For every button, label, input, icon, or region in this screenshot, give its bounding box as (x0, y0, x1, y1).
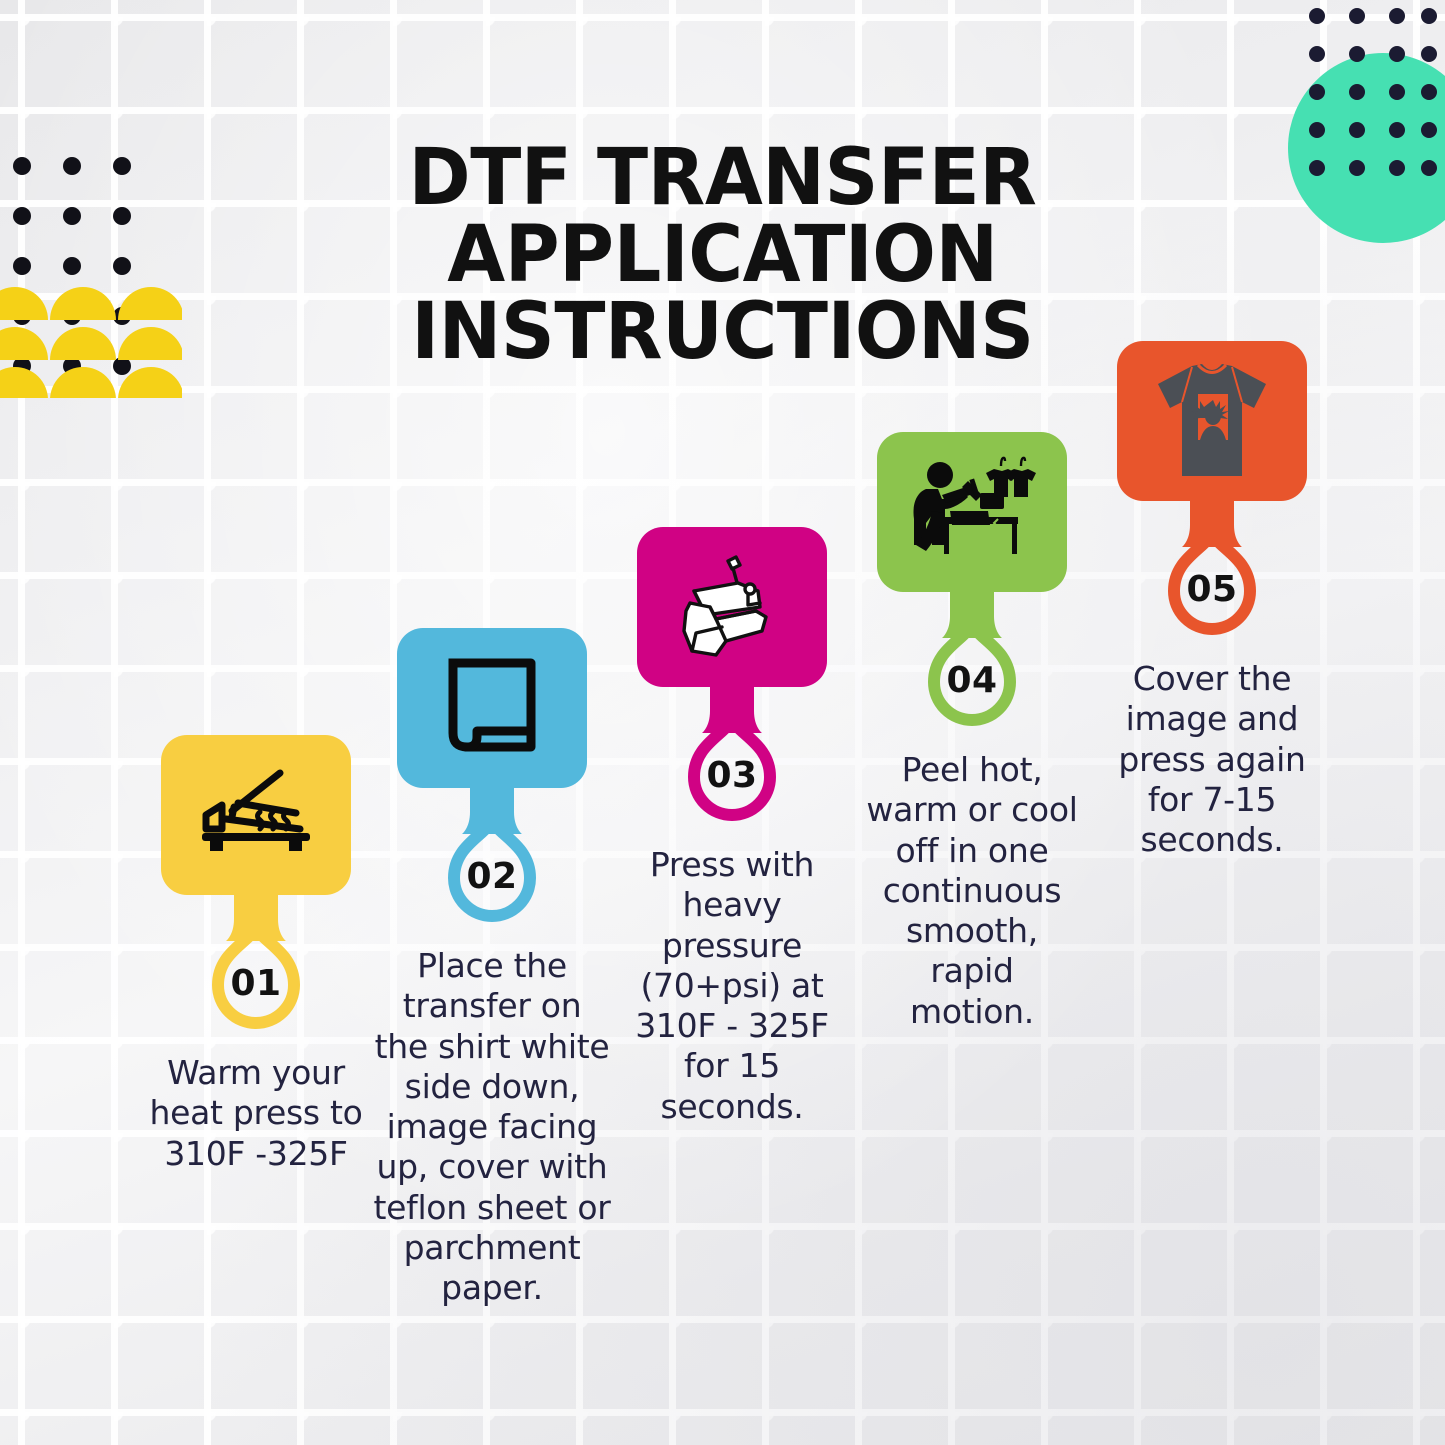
heat-press-machine-icon (670, 545, 794, 669)
step-01-text: Warm your heat press to 310F -325F (144, 1053, 369, 1174)
step-02: 02 Place the transfer on the shirt white… (368, 628, 616, 1308)
steps-container: 01 Warm your heat press to 310F -325F 02… (0, 0, 1445, 1445)
step-03-text: Press with heavy pressure (70+psi) at 31… (617, 845, 847, 1127)
step-01-number: 01 (196, 963, 316, 1004)
transfer-sheet-icon (437, 653, 547, 763)
step-03-number: 03 (672, 755, 792, 796)
step-04-icon-card (877, 432, 1067, 592)
step-03-connector: 03 (672, 681, 792, 831)
step-03: 03 Press with heavy pressure (70+psi) at… (608, 527, 856, 1127)
step-02-number: 02 (432, 856, 552, 897)
printed-tshirt-icon (1148, 360, 1276, 482)
step-05-connector: 05 (1152, 495, 1272, 645)
step-05-text: Cover the image and press again for 7-15… (1105, 659, 1320, 860)
step-03-icon-card (637, 527, 827, 687)
step-04-text: Peel hot, warm or cool off in one contin… (865, 750, 1080, 1032)
step-05-icon-card (1117, 341, 1307, 501)
step-05: 05 Cover the image and press again for 7… (1088, 341, 1336, 860)
step-02-text: Place the transfer on the shirt white si… (372, 946, 612, 1308)
step-01-connector: 01 (196, 889, 316, 1039)
step-04-connector: 04 (912, 586, 1032, 736)
step-04: 04 Peel hot, warm or cool off in one con… (848, 432, 1096, 1032)
step-02-connector: 02 (432, 782, 552, 932)
step-05-number: 05 (1152, 569, 1272, 610)
step-04-number: 04 (912, 660, 1032, 701)
worker-peeling-icon (902, 453, 1042, 571)
step-02-icon-card (397, 628, 587, 788)
heat-press-open-icon (192, 767, 320, 863)
step-01: 01 Warm your heat press to 310F -325F (132, 735, 380, 1174)
infographic-canvas: DTF TRANSFER APPLICATION INSTRUCTIONS (0, 0, 1445, 1445)
step-01-icon-card (161, 735, 351, 895)
